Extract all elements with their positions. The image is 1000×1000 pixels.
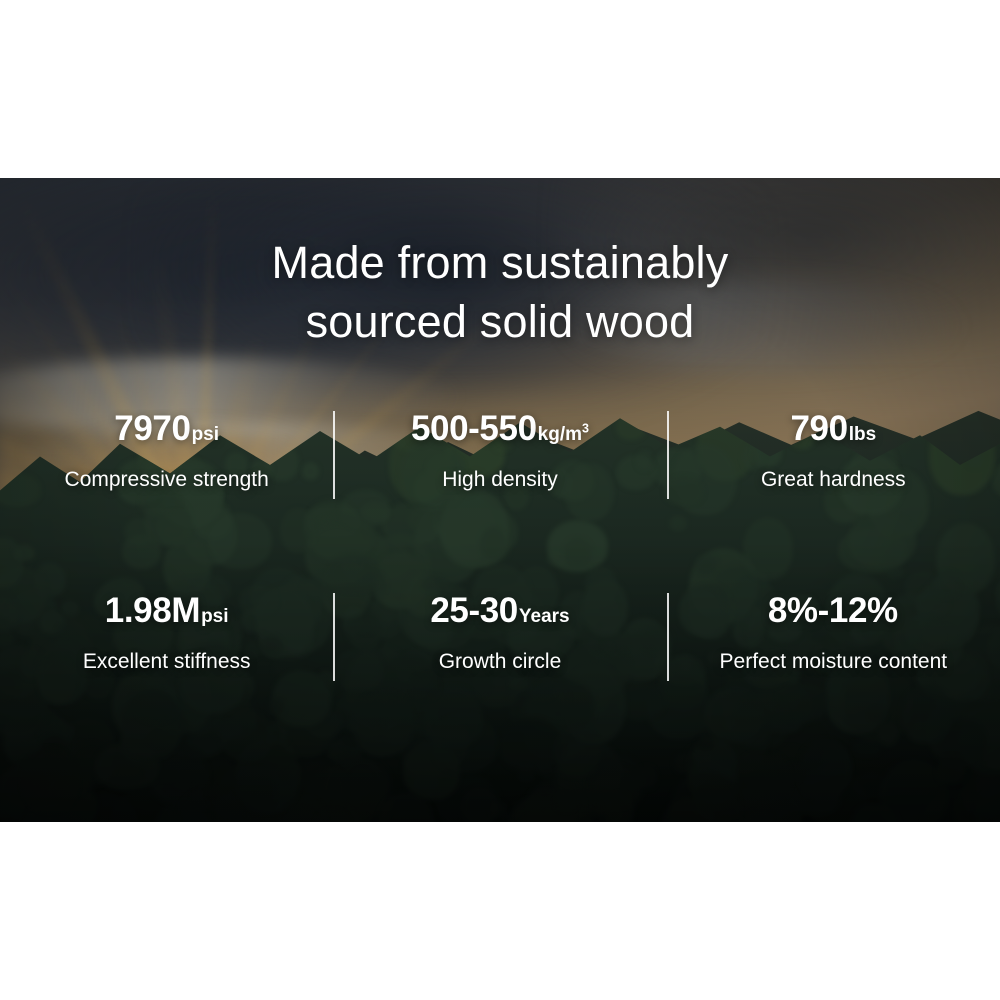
stat-unit: Years: [519, 606, 570, 627]
stat-unit: psi: [192, 424, 219, 445]
stat-label: High density: [442, 468, 558, 491]
stat-unit-exponent: 3: [582, 422, 589, 436]
stat-unit: lbs: [849, 424, 876, 445]
stat-number: 7970: [114, 409, 190, 448]
stat-value: 7970psi: [114, 411, 219, 446]
stat-high-density: 500-550kg/m3 High density: [333, 405, 666, 501]
stat-number: 500-550: [411, 409, 537, 448]
stat-unit: psi: [201, 606, 228, 627]
stat-label: Perfect moisture content: [720, 650, 948, 673]
stat-number: 1.98M: [105, 591, 200, 630]
stat-value: 500-550kg/m3: [411, 411, 589, 446]
banner-root: Made from sustainably sourced solid wood…: [0, 0, 1000, 1000]
stat-value: 1.98Mpsi: [105, 593, 229, 628]
stat-compressive-strength: 7970psi Compressive strength: [0, 405, 333, 501]
stat-moisture-content: 8%-12% Perfect moisture content: [667, 587, 1000, 683]
stat-value: 790lbs: [790, 411, 876, 446]
stats-row-two: 1.98Mpsi Excellent stiffness 25-30Years …: [0, 587, 1000, 683]
stat-label: Growth circle: [439, 650, 562, 673]
stat-number: 25-30: [430, 591, 518, 630]
stat-excellent-stiffness: 1.98Mpsi Excellent stiffness: [0, 587, 333, 683]
stats-row-one: 7970psi Compressive strength 500-550kg/m…: [0, 405, 1000, 501]
stat-value: 8%-12%: [768, 593, 899, 628]
page-title: Made from sustainably sourced solid wood: [120, 234, 880, 351]
hero-photo: Made from sustainably sourced solid wood…: [0, 178, 1000, 822]
stat-label: Excellent stiffness: [83, 650, 251, 673]
headline-line-1: Made from sustainably: [120, 234, 880, 293]
stat-label: Compressive strength: [65, 468, 269, 491]
stat-label: Great hardness: [761, 468, 906, 491]
headline-line-2: sourced solid wood: [120, 293, 880, 352]
stat-number: 790: [790, 409, 847, 448]
stat-value: 25-30Years: [430, 593, 569, 628]
stat-unit: kg/m3: [538, 424, 589, 445]
content-overlay: Made from sustainably sourced solid wood…: [0, 178, 1000, 822]
stat-great-hardness: 790lbs Great hardness: [667, 405, 1000, 501]
stat-growth-circle: 25-30Years Growth circle: [333, 587, 666, 683]
stat-number: 8%-12%: [768, 591, 898, 630]
